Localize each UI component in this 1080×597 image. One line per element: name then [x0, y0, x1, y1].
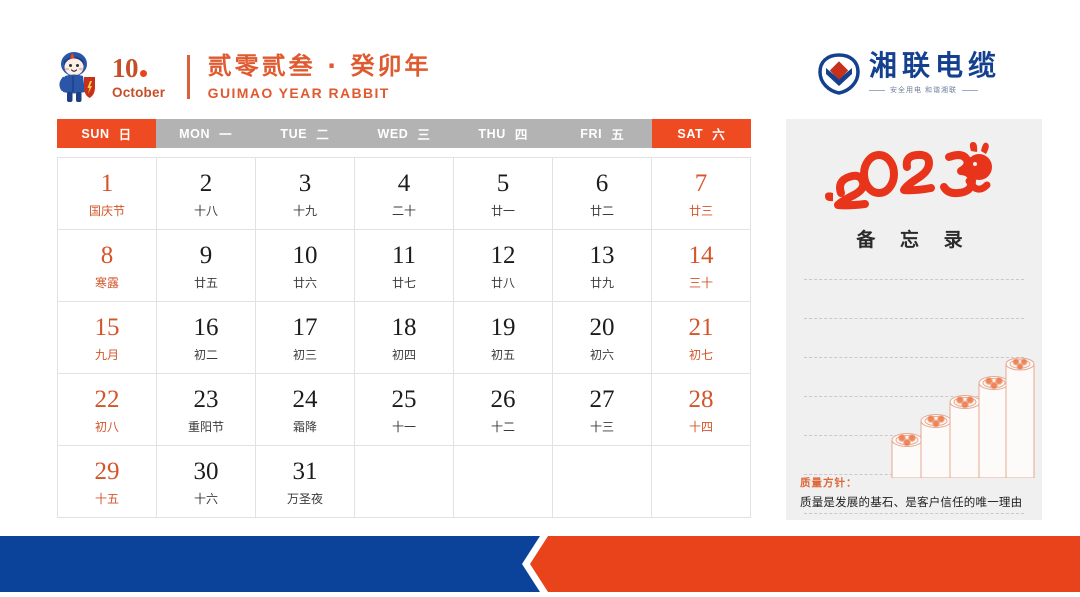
year-block: 贰零贰叁 · 癸卯年 GUIMAO YEAR RABBIT [208, 53, 432, 101]
calendar-day-cell[interactable]: 24霜降 [256, 374, 355, 446]
day-lunar-label: 万圣夜 [287, 493, 323, 505]
company-name-cn: 湘联电缆 [869, 52, 1001, 80]
day-lunar-label: 廿五 [194, 277, 218, 289]
day-number: 26 [491, 387, 516, 412]
calendar-day-cell[interactable]: 5廿一 [454, 158, 553, 230]
day-lunar-label: 寒露 [95, 277, 119, 289]
weekday-en: TUE [280, 127, 307, 141]
memo-panel: 备 忘 录 [786, 119, 1042, 520]
day-number: 18 [392, 315, 417, 340]
month-number: 10 [112, 55, 147, 82]
calendar-day-cell[interactable]: 14三十 [652, 230, 751, 302]
calendar-day-cell[interactable]: 1国庆节 [58, 158, 157, 230]
slogan-rule-left [869, 90, 885, 91]
calendar-cell-empty [553, 446, 652, 518]
calendar-day-cell[interactable]: 12廿八 [454, 230, 553, 302]
day-number: 14 [689, 243, 714, 268]
day-number: 17 [293, 315, 318, 340]
day-lunar-label: 十三 [590, 421, 614, 433]
calendar-day-cell[interactable]: 13廿九 [553, 230, 652, 302]
day-number: 9 [200, 243, 213, 268]
weekday-header-tue: TUE二 [255, 119, 354, 148]
quality-policy-label: 质量方针： [800, 475, 1032, 490]
calendar-cell-empty [355, 446, 454, 518]
weekday-header-row: SUN日MON一TUE二WED三THU四FRI五SAT六 [57, 119, 751, 148]
day-lunar-label: 廿三 [689, 205, 713, 217]
calendar-day-cell[interactable]: 4二十 [355, 158, 454, 230]
day-lunar-label: 初三 [293, 349, 317, 361]
weekday-header-fri: FRI五 [553, 119, 652, 148]
day-lunar-label: 霜降 [293, 421, 317, 433]
day-number: 19 [491, 315, 516, 340]
calendar-day-cell[interactable]: 22初八 [58, 374, 157, 446]
day-number: 4 [398, 171, 411, 196]
day-number: 25 [392, 387, 417, 412]
calendar-day-cell[interactable]: 10廿六 [256, 230, 355, 302]
calendar-day-cell[interactable]: 6廿二 [553, 158, 652, 230]
calendar-day-cell[interactable]: 16初二 [157, 302, 256, 374]
calendar-day-cell[interactable]: 15九月 [58, 302, 157, 374]
weekday-cn: 一 [219, 124, 232, 143]
day-lunar-label: 初六 [590, 349, 614, 361]
day-lunar-label: 初四 [392, 349, 416, 361]
day-lunar-label: 廿一 [491, 205, 515, 217]
day-number: 6 [596, 171, 609, 196]
calendar-day-cell[interactable]: 27十三 [553, 374, 652, 446]
day-lunar-label: 初五 [491, 349, 515, 361]
calendar-days-grid: 1国庆节2十八3十九4二十5廿一6廿二7廿三8寒露9廿五10廿六11廿七12廿八… [57, 157, 751, 518]
quality-policy-text: 质量是发展的基石、是客户信任的唯一理由 [800, 494, 1032, 510]
weekday-cn: 六 [712, 124, 725, 143]
calendar-day-cell[interactable]: 2十八 [157, 158, 256, 230]
calendar-day-cell[interactable]: 21初七 [652, 302, 751, 374]
calendar-day-cell[interactable]: 31万圣夜 [256, 446, 355, 518]
day-lunar-label: 十九 [293, 205, 317, 217]
weekday-cn: 五 [611, 124, 624, 143]
day-number: 24 [293, 387, 318, 412]
weekday-header-wed: WED三 [354, 119, 453, 148]
weekday-en: THU [478, 127, 506, 141]
weekday-en: MON [179, 127, 210, 141]
calendar-day-cell[interactable]: 7廿三 [652, 158, 751, 230]
day-lunar-label: 三十 [689, 277, 713, 289]
day-number: 11 [392, 243, 416, 268]
memo-line[interactable] [804, 513, 1024, 515]
calendar-day-cell[interactable]: 25十一 [355, 374, 454, 446]
slogan-rule-right [962, 90, 978, 91]
day-lunar-label: 廿二 [590, 205, 614, 217]
day-number: 2 [200, 171, 213, 196]
calendar-day-cell[interactable]: 29十五 [58, 446, 157, 518]
day-number: 15 [95, 315, 120, 340]
header-divider [187, 55, 190, 99]
day-lunar-label: 十一 [392, 421, 416, 433]
quality-policy-block: 质量方针： 质量是发展的基石、是客户信任的唯一理由 [800, 475, 1032, 510]
day-lunar-label: 廿六 [293, 277, 317, 289]
calendar-day-cell[interactable]: 8寒露 [58, 230, 157, 302]
xianglian-shield-logo-icon [818, 53, 860, 95]
day-lunar-label: 重阳节 [188, 421, 224, 433]
year-brush-art [786, 119, 1042, 229]
calendar-day-cell[interactable]: 17初三 [256, 302, 355, 374]
company-logo: 湘联电缆 安全用电 和谐湘联 [818, 52, 1001, 95]
day-lunar-label: 廿八 [491, 277, 515, 289]
weekday-header-sat: SAT六 [652, 119, 751, 148]
day-number: 30 [194, 459, 219, 484]
day-number: 23 [194, 387, 219, 412]
weekday-cn: 三 [417, 124, 430, 143]
weekday-en: WED [377, 127, 408, 141]
day-number: 29 [95, 459, 120, 484]
calendar-day-cell[interactable]: 19初五 [454, 302, 553, 374]
cable-bundle-illustration-icon [888, 348, 1038, 478]
month-block: 10 October [112, 55, 165, 100]
day-number: 12 [491, 243, 516, 268]
company-name-block: 湘联电缆 安全用电 和谐湘联 [869, 52, 1001, 95]
calendar-day-cell[interactable]: 23重阳节 [157, 374, 256, 446]
day-lunar-label: 十八 [194, 205, 218, 217]
calendar-day-cell[interactable]: 18初四 [355, 302, 454, 374]
day-lunar-label: 廿七 [392, 277, 416, 289]
weekday-en: SUN [81, 127, 109, 141]
weekday-cn: 二 [316, 124, 329, 143]
company-slogan: 安全用电 和谐湘联 [885, 85, 962, 95]
weekday-cn: 四 [515, 124, 528, 143]
day-number: 7 [695, 171, 708, 196]
day-lunar-label: 九月 [95, 349, 119, 361]
calendar-day-cell[interactable]: 3十九 [256, 158, 355, 230]
month-dot-icon [140, 70, 147, 77]
month-english-label: October [112, 85, 165, 100]
day-number: 3 [299, 171, 312, 196]
day-lunar-label: 初七 [689, 349, 713, 361]
memo-line[interactable] [804, 318, 1024, 320]
weekday-header-thu: THU四 [454, 119, 553, 148]
year-chinese-label: 贰零贰叁 · 癸卯年 [208, 53, 432, 81]
day-lunar-label: 十四 [689, 421, 713, 433]
day-number: 27 [590, 387, 615, 412]
weekday-en: SAT [677, 127, 703, 141]
day-number: 22 [95, 387, 120, 412]
day-number: 16 [194, 315, 219, 340]
day-number: 8 [101, 243, 114, 268]
calendar-page: 10 October 贰零贰叁 · 癸卯年 GUIMAO YEAR RABBIT… [0, 0, 1080, 592]
day-number: 28 [689, 387, 714, 412]
day-number: 13 [590, 243, 615, 268]
day-number: 21 [689, 315, 714, 340]
day-number: 20 [590, 315, 615, 340]
calendar-cell-empty [454, 446, 553, 518]
day-number: 31 [293, 459, 318, 484]
day-lunar-label: 廿九 [590, 277, 614, 289]
calendar-header: 10 October 贰零贰叁 · 癸卯年 GUIMAO YEAR RABBIT [52, 46, 432, 108]
day-number: 5 [497, 171, 510, 196]
year-english-label: GUIMAO YEAR RABBIT [208, 85, 432, 101]
day-lunar-label: 初八 [95, 421, 119, 433]
day-lunar-label: 国庆节 [89, 205, 125, 217]
weekday-en: FRI [580, 127, 602, 141]
company-slogan-row: 安全用电 和谐湘联 [869, 85, 1001, 95]
calendar-cell-empty [652, 446, 751, 518]
day-number: 10 [293, 243, 318, 268]
electric-mascot-icon [52, 49, 100, 105]
day-lunar-label: 十二 [491, 421, 515, 433]
day-lunar-label: 二十 [392, 205, 416, 217]
memo-line[interactable] [804, 279, 1024, 281]
day-number: 1 [101, 171, 114, 196]
calendar-day-cell[interactable]: 9廿五 [157, 230, 256, 302]
calendar-day-cell[interactable]: 30十六 [157, 446, 256, 518]
calendar-day-cell[interactable]: 11廿七 [355, 230, 454, 302]
calendar-grid-container: SUN日MON一TUE二WED三THU四FRI五SAT六 1国庆节2十八3十九4… [57, 119, 751, 518]
day-lunar-label: 十六 [194, 493, 218, 505]
memo-title: 备 忘 录 [786, 225, 1042, 252]
bottom-banner [0, 536, 1080, 592]
calendar-day-cell[interactable]: 28十四 [652, 374, 751, 446]
calendar-day-cell[interactable]: 26十二 [454, 374, 553, 446]
weekday-cn: 日 [119, 124, 132, 143]
calendar-day-cell[interactable]: 20初六 [553, 302, 652, 374]
weekday-header-mon: MON一 [156, 119, 255, 148]
weekday-header-sun: SUN日 [57, 119, 156, 148]
day-lunar-label: 初二 [194, 349, 218, 361]
day-lunar-label: 十五 [95, 493, 119, 505]
